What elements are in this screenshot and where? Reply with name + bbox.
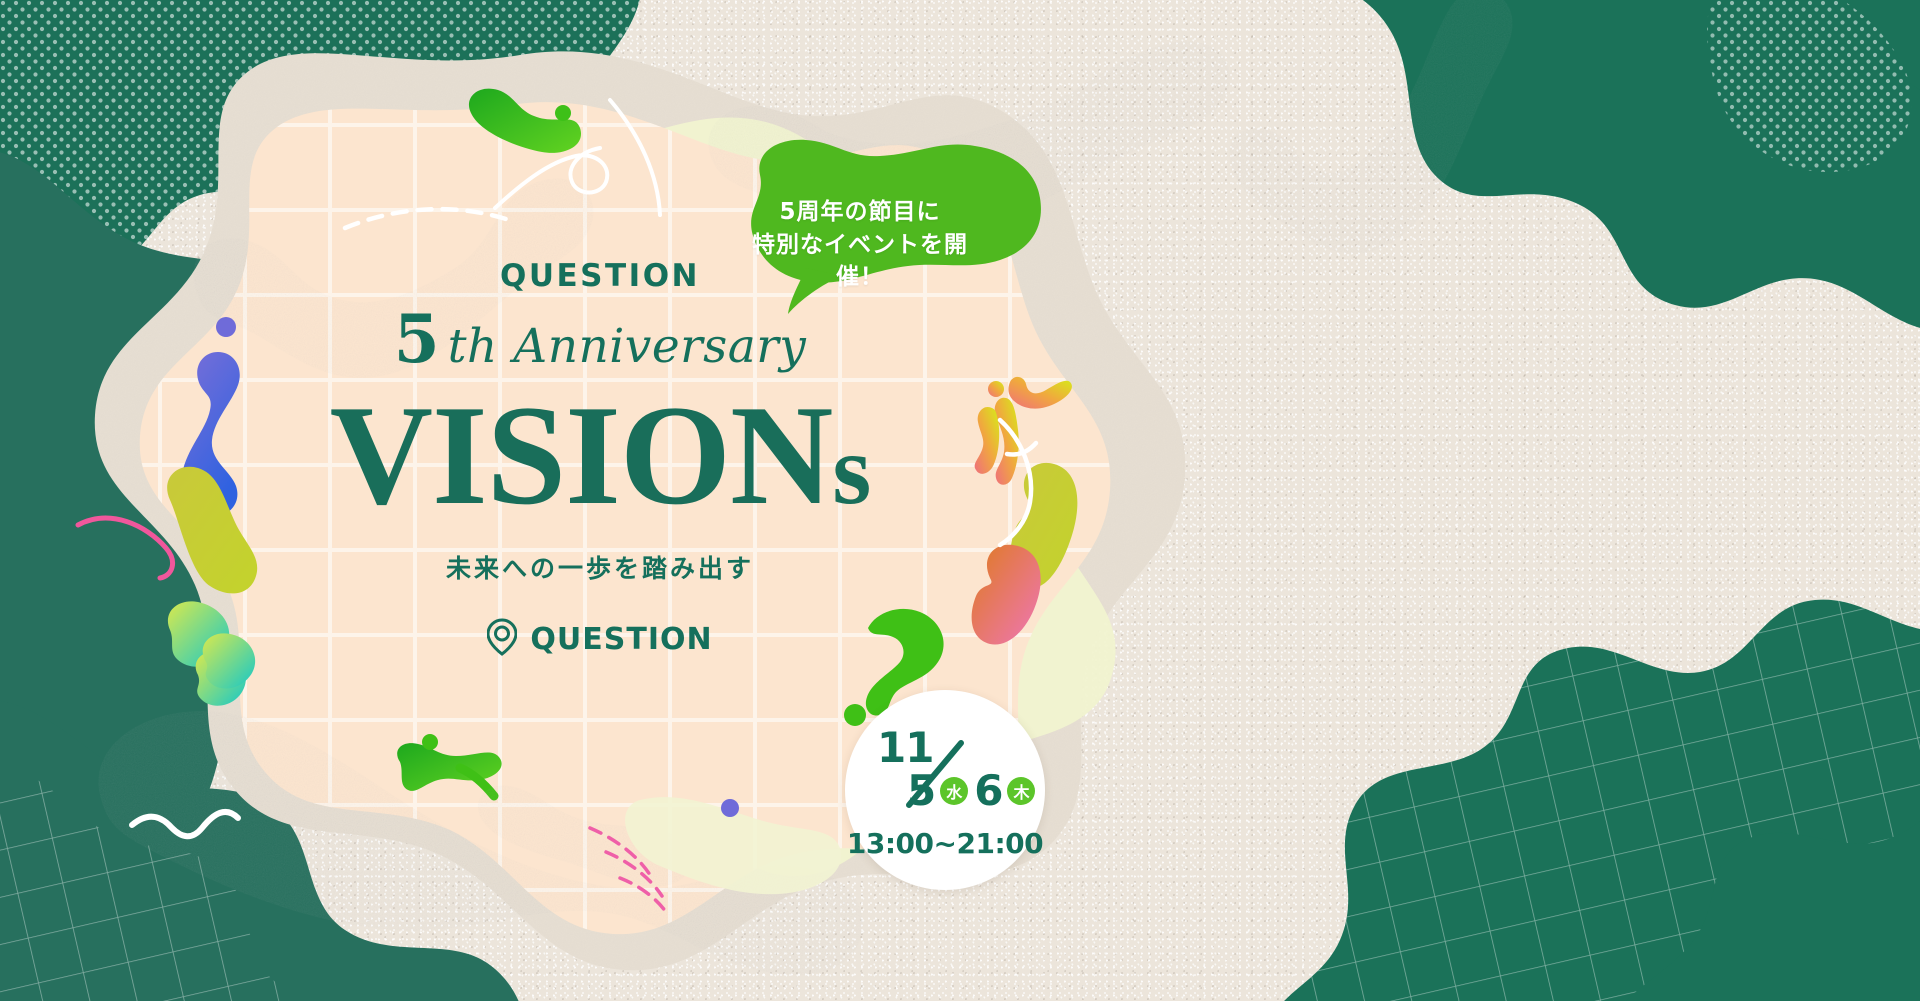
date-days: 5 水 6 木 [907, 770, 1038, 812]
violet-dot-bottom [721, 799, 739, 817]
speech-bubble [751, 140, 1041, 314]
date-dow-2: 木 [1007, 777, 1035, 805]
date-day-2: 6 [974, 770, 1002, 812]
date-badge-top: 11 5 水 6 木 [859, 721, 1031, 825]
green-splash-dot [422, 734, 438, 750]
violet-dot [216, 317, 236, 337]
date-badge: 11 5 水 6 木 13:00~21:00 [845, 690, 1045, 890]
white-arc-top [610, 100, 660, 215]
orange-blob-lower-right [972, 545, 1041, 645]
olive-lime-blob-left [167, 467, 257, 594]
date-day-1: 5 [907, 770, 935, 812]
white-dashed-arc [345, 209, 515, 228]
poster-canvas: QUESTION 5 th Anniversary VISIONs 未来への一歩… [0, 0, 1920, 1001]
pink-curve-stroke [78, 518, 173, 578]
cyan-pill-lower-left [203, 633, 255, 688]
yellow-blue-squiggle [194, 178, 594, 377]
date-time-range: 13:00~21:00 [847, 827, 1043, 860]
green-dot-upper-left [555, 105, 571, 121]
date-dow-1: 水 [940, 777, 968, 805]
lime-blue-ribbon [1229, 0, 1512, 254]
